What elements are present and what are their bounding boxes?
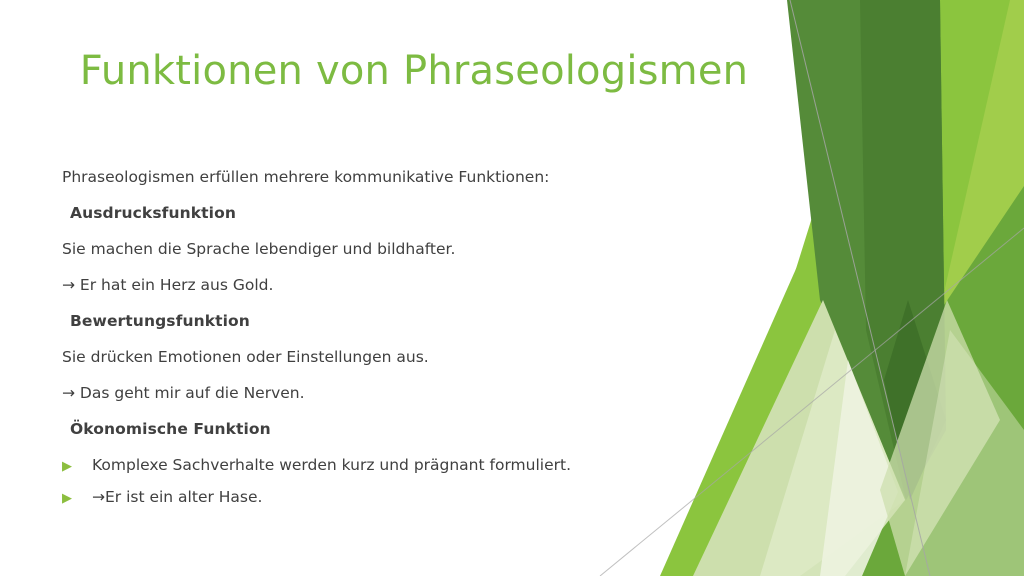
hairline-diagonal-primary (790, 0, 930, 576)
slide-body: Phraseologismen erfüllen mehrere kommuni… (62, 170, 702, 521)
section-description-ausdrucksfunktion: Sie machen die Sprache lebendiger und bi… (62, 242, 702, 258)
section-example-ausdrucksfunktion: → Er hat ein Herz aus Gold. (62, 278, 702, 294)
palest-green-highlight (820, 360, 898, 576)
dark-green-wedge (787, 0, 946, 500)
mid-green-triangle (762, 186, 1024, 576)
section-heading-ausdrucksfunktion: Ausdrucksfunktion (62, 206, 702, 222)
light-lime-band (905, 0, 1024, 576)
pale-veil-lower-right (905, 330, 1024, 576)
triangle-bullet-icon: ▶ (62, 458, 92, 473)
darker-green-band (860, 0, 946, 500)
list-item-label: →Er ist ein alter Hase. (92, 490, 262, 506)
slide-title: Funktionen von Phraseologismen (64, 48, 764, 94)
slide: Funktionen von Phraseologismen Phraseolo… (0, 0, 1024, 576)
section-heading-oekonomische-funktion: Ökonomische Funktion (62, 422, 702, 438)
deepest-green-sliver (884, 300, 946, 500)
triangle-bullet-icon: ▶ (62, 490, 92, 505)
list-item-label: Komplexe Sachverhalte werden kurz und pr… (92, 458, 571, 474)
section-description-bewertungsfunktion: Sie drücken Emotionen oder Einstellungen… (62, 350, 702, 366)
paler-green-facet (760, 330, 905, 576)
list-item: ▶ Komplexe Sachverhalte werden kurz und … (62, 458, 702, 474)
pale-green-facet-left (693, 300, 905, 576)
list-item: ▶ →Er ist ein alter Hase. (62, 490, 702, 506)
body-intro-line: Phraseologismen erfüllen mehrere kommuni… (62, 170, 702, 186)
section-heading-bewertungsfunktion: Bewertungsfunktion (62, 314, 702, 330)
section-example-bewertungsfunktion: → Das geht mir auf die Nerven. (62, 386, 702, 402)
pale-green-facet-right (880, 300, 1000, 576)
